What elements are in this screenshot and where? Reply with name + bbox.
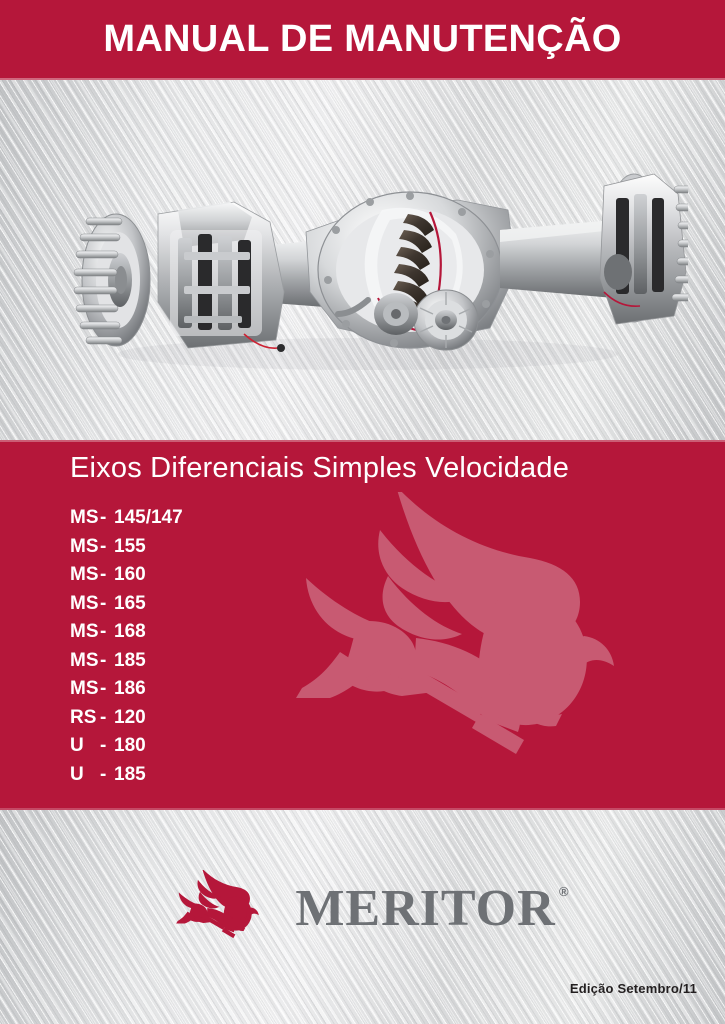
edition-label: Edição Setembro/11 [570, 981, 697, 996]
model-separator: - [100, 704, 114, 733]
model-list-item: MS-185 [70, 647, 183, 676]
model-separator: - [100, 732, 114, 761]
model-list-item: U-180 [70, 732, 183, 761]
model-number: 185 [114, 647, 146, 676]
meritor-winged-bull-logo-icon [169, 870, 281, 948]
axle-illustration [38, 102, 688, 402]
meritor-winged-bull-watermark-icon [284, 492, 684, 792]
model-number: 165 [114, 590, 146, 619]
model-prefix: MS [70, 675, 100, 704]
brand-logo: MERITOR ® [0, 870, 725, 948]
model-number: 185 [114, 761, 146, 790]
model-prefix: U [70, 761, 100, 790]
model-separator: - [100, 675, 114, 704]
brand-name: MERITOR [295, 880, 555, 937]
footer-section: MERITOR ® Edição Setembro/11 [0, 810, 725, 1024]
model-list-item: MS-168 [70, 618, 183, 647]
model-number: 160 [114, 561, 146, 590]
model-list-item: MS-145/147 [70, 504, 183, 533]
model-prefix: MS [70, 533, 100, 562]
model-separator: - [100, 504, 114, 533]
model-number: 186 [114, 675, 146, 704]
registered-trademark-icon: ® [559, 885, 569, 898]
model-prefix: MS [70, 618, 100, 647]
hero-photo-section [0, 80, 725, 440]
model-prefix: MS [70, 590, 100, 619]
brand-wordmark: MERITOR ® [295, 883, 555, 935]
product-title: Eixos Diferenciais Simples Velocidade [70, 452, 569, 485]
model-list-item: MS-186 [70, 675, 183, 704]
model-list-item: MS-155 [70, 533, 183, 562]
model-list-item: U-185 [70, 761, 183, 790]
model-number: 120 [114, 704, 146, 733]
model-number: 180 [114, 732, 146, 761]
model-separator: - [100, 533, 114, 562]
axle-assembly-image [0, 80, 725, 440]
model-separator: - [100, 618, 114, 647]
model-list: MS-145/147MS-155MS-160MS-165MS-168MS-185… [70, 504, 183, 789]
title-block: Eixos Diferenciais Simples Velocidade MS… [0, 440, 725, 810]
model-separator: - [100, 561, 114, 590]
model-prefix: MS [70, 504, 100, 533]
page-title: MANUAL DE MANUTENÇÃO [103, 20, 621, 60]
header-band: MANUAL DE MANUTENÇÃO [0, 0, 725, 80]
manual-cover-page: MANUAL DE MANUTENÇÃO [0, 0, 725, 1024]
model-number: 155 [114, 533, 146, 562]
model-list-item: MS-165 [70, 590, 183, 619]
model-prefix: MS [70, 647, 100, 676]
model-list-item: RS-120 [70, 704, 183, 733]
model-prefix: U [70, 732, 100, 761]
model-prefix: RS [70, 704, 100, 733]
model-list-item: MS-160 [70, 561, 183, 590]
model-separator: - [100, 647, 114, 676]
model-separator: - [100, 590, 114, 619]
model-separator: - [100, 761, 114, 790]
model-number: 168 [114, 618, 146, 647]
model-prefix: MS [70, 561, 100, 590]
model-number: 145/147 [114, 504, 183, 533]
